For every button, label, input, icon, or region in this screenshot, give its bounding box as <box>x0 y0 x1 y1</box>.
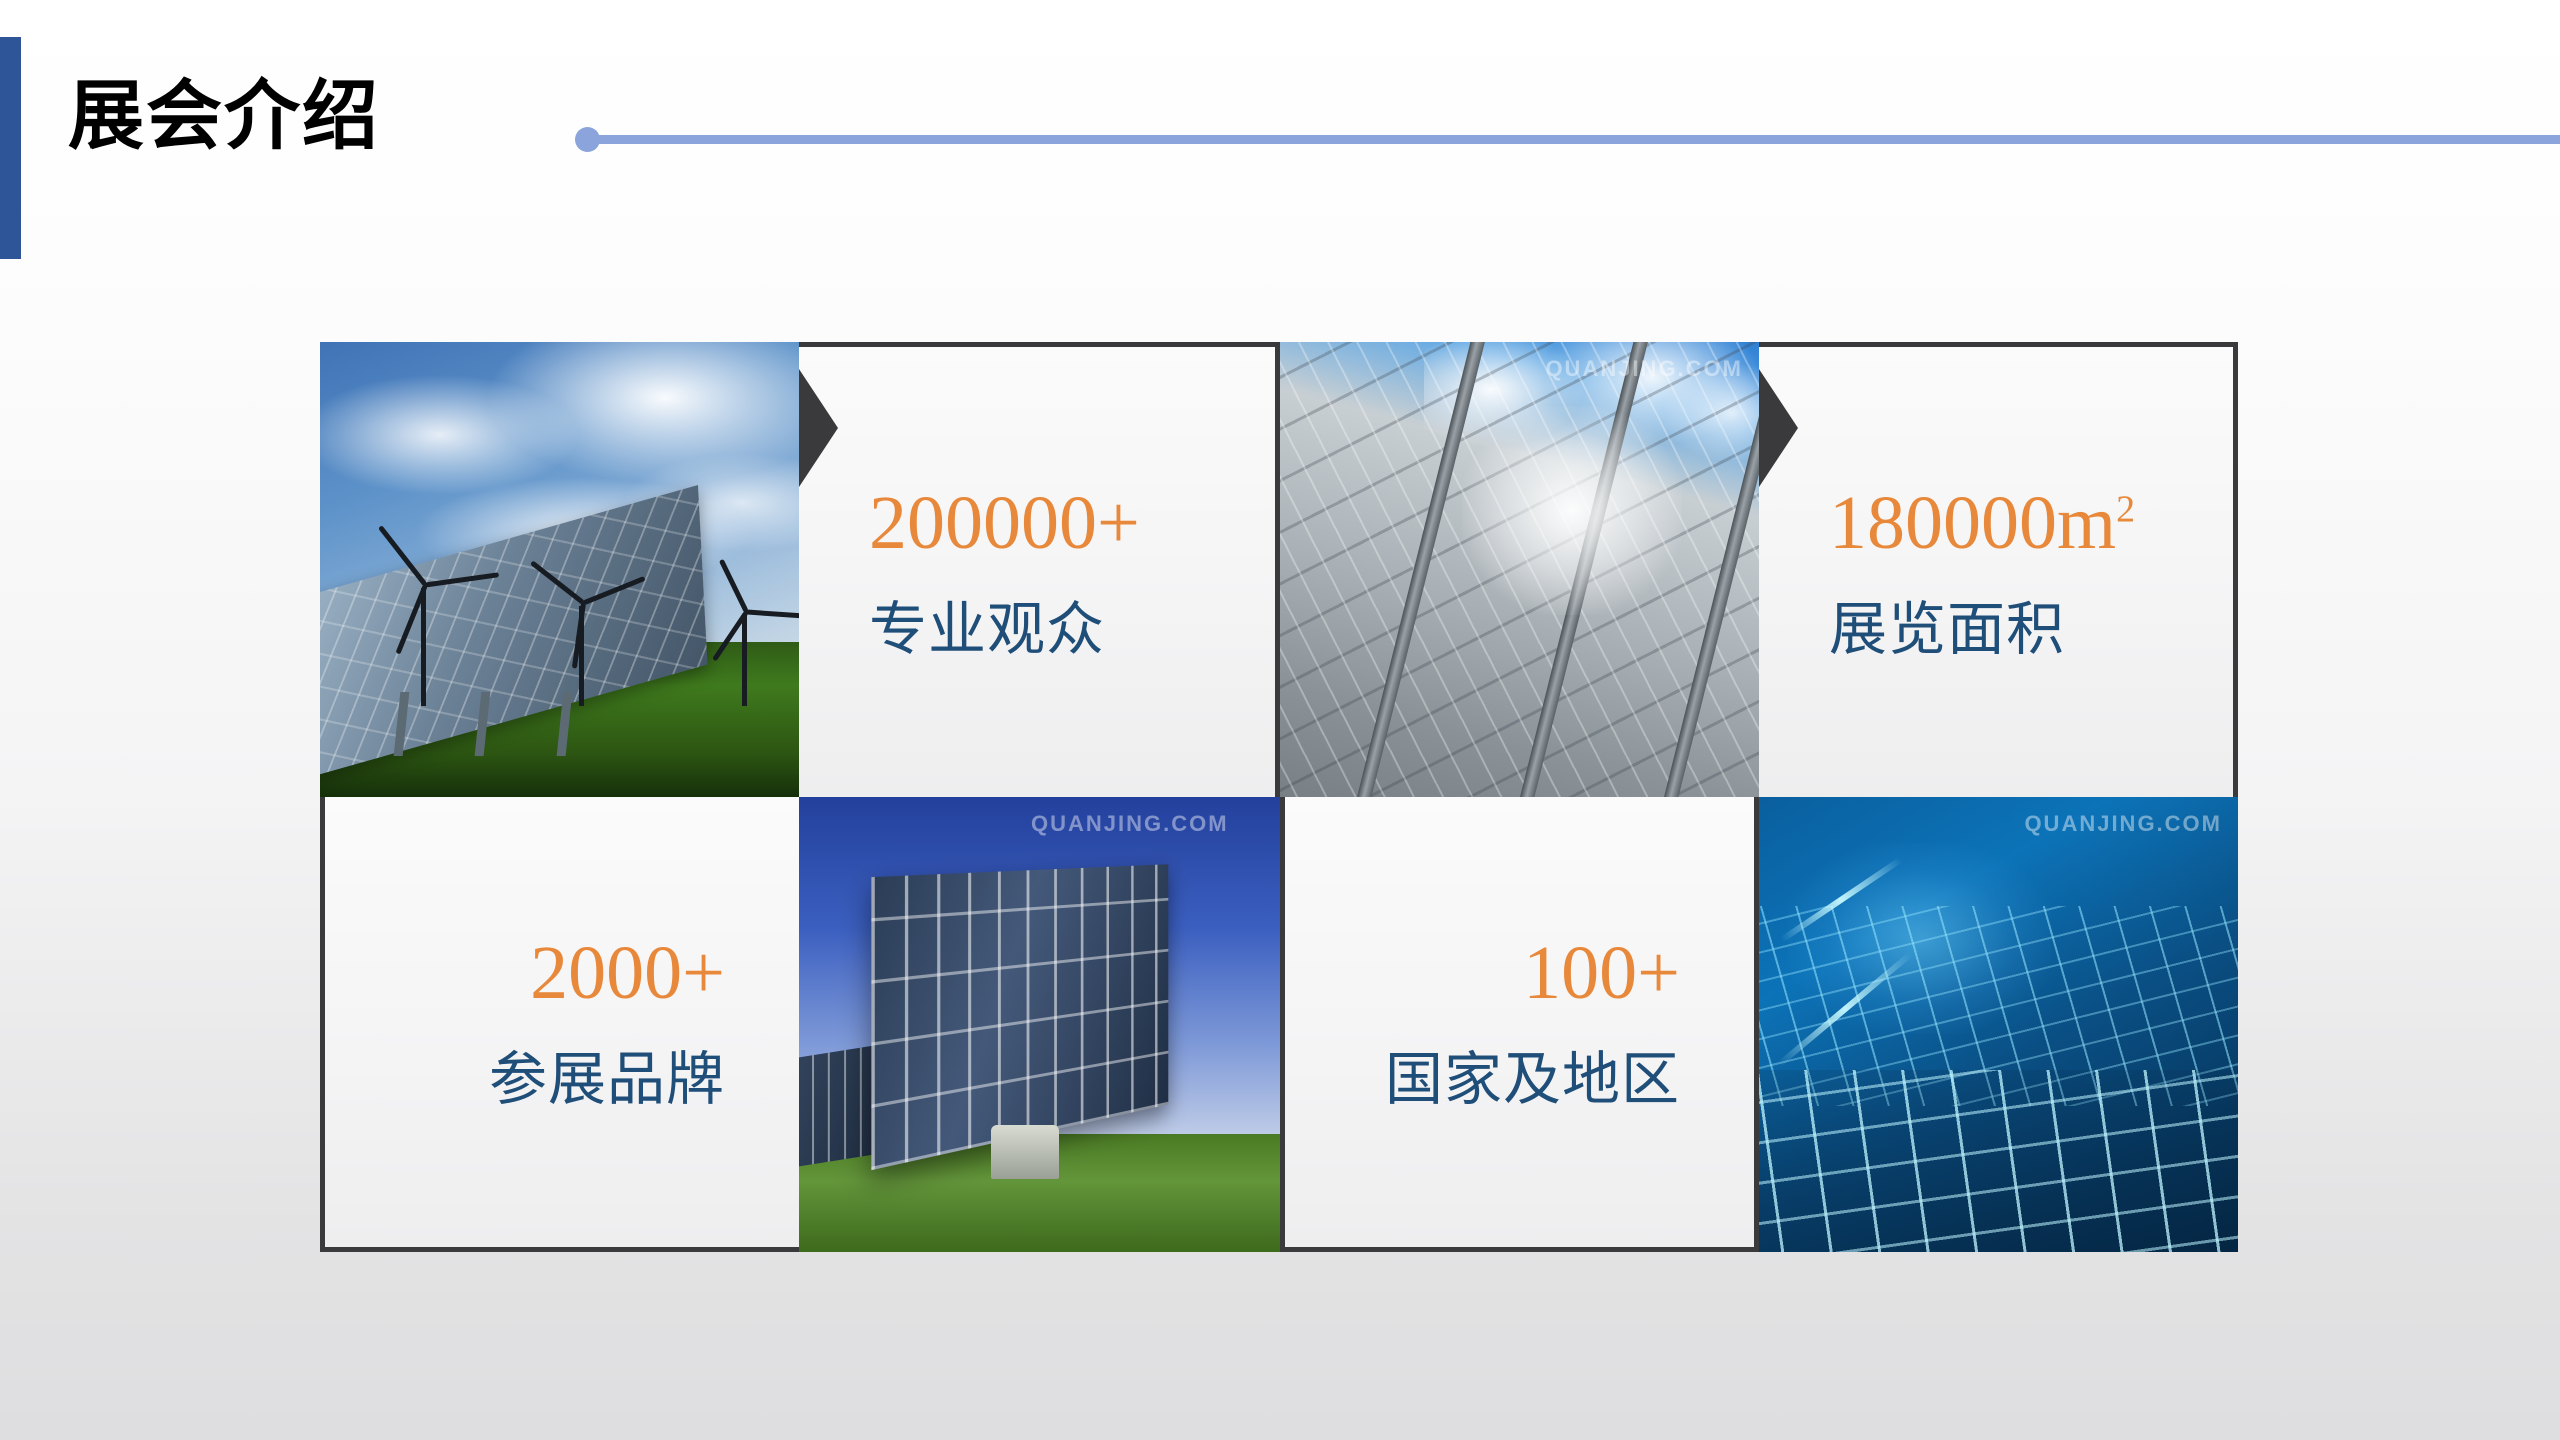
stat-value-2: 180000m2 <box>1829 479 2181 569</box>
silver-solar-panels-sky-photo: QUANJING.COM <box>1280 342 1759 797</box>
stat-panel-4: 100+ 国家及地区 <box>1280 797 1759 1252</box>
stat-label-1: 专业观众 <box>869 595 1223 665</box>
photo-watermark-3: QUANJING.COM <box>1031 811 1229 837</box>
stat-value-4-number: 100+ <box>1523 931 1680 1015</box>
arrow-right-icon <box>1759 369 1798 487</box>
stats-row-1: 200000+ 专业观众 QUANJING.COM <box>320 342 2238 797</box>
stat-text-cell-1: 200000+ 专业观众 <box>799 342 1280 797</box>
stat-label-2: 展览面积 <box>1829 595 2181 665</box>
stat-image-cell-3: QUANJING.COM <box>799 797 1280 1252</box>
stats-grid: 200000+ 专业观众 QUANJING.COM <box>320 342 2238 1258</box>
page-title: 展会介绍 <box>68 78 380 154</box>
tilted-solar-array-grass-photo: QUANJING.COM <box>799 797 1280 1252</box>
stat-value-3: 2000+ <box>377 929 725 1019</box>
deco-line-icon <box>595 135 2560 144</box>
stat-value-2-superscript: 2 <box>2116 489 2135 531</box>
header-decoration <box>575 126 2560 152</box>
photo-watermark-2: QUANJING.COM <box>1545 356 1743 382</box>
header-accent-bar <box>0 37 21 259</box>
stats-row-2: 2000+ 参展品牌 QUANJING.COM <box>320 797 2238 1252</box>
stat-value-4: 100+ <box>1337 929 1680 1019</box>
stat-value-1-number: 200000+ <box>869 481 1140 565</box>
arrow-right-icon <box>799 369 838 487</box>
stat-label-3: 参展品牌 <box>377 1045 725 1115</box>
arrow-right-icon <box>1754 819 1759 937</box>
stat-label-4: 国家及地区 <box>1337 1045 1680 1115</box>
stat-text-cell-2: 180000m2 展览面积 <box>1759 342 2238 797</box>
stat-image-cell-4: QUANJING.COM <box>1759 797 2238 1252</box>
stat-value-2-number: 180000m <box>1829 481 2116 565</box>
stat-panel-1: 200000+ 专业观众 <box>799 342 1280 797</box>
stat-value-1: 200000+ <box>869 479 1223 569</box>
photo-watermark-4: QUANJING.COM <box>2024 811 2222 837</box>
stat-value-3-number: 2000+ <box>530 931 725 1015</box>
stat-image-cell-1 <box>320 342 799 797</box>
stat-text-cell-3: 2000+ 参展品牌 <box>320 797 799 1252</box>
stat-panel-2: 180000m2 展览面积 <box>1759 342 2238 797</box>
stat-image-cell-2: QUANJING.COM <box>1280 342 1759 797</box>
blue-tech-solar-grid-photo: QUANJING.COM <box>1759 797 2238 1252</box>
stat-text-cell-4: 100+ 国家及地区 <box>1280 797 1759 1252</box>
stat-panel-3: 2000+ 参展品牌 <box>320 797 799 1252</box>
wind-turbines-solar-field-photo <box>320 342 799 797</box>
